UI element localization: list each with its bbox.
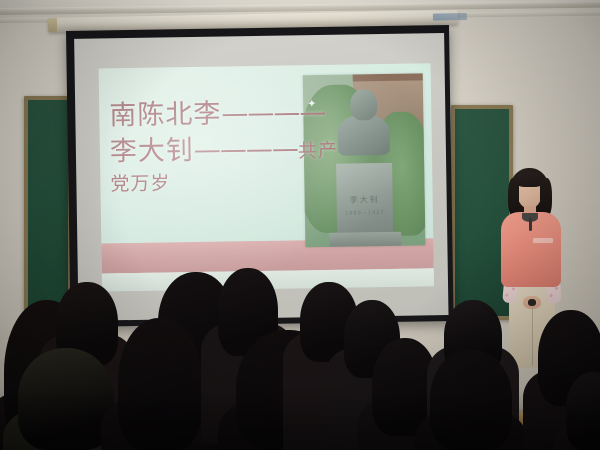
chalkboard-left: [24, 96, 72, 318]
presenter-hair-side-left: [508, 178, 519, 216]
student-long-hair-right-head: [430, 350, 512, 450]
photo-bust-shoulders: [337, 115, 390, 156]
slide-text-block: 南陈北李———— 李大钊————共产 党万岁: [109, 95, 326, 198]
photo-inscription-dates: 1889—1927: [345, 210, 385, 217]
classroom-scene: 李大钊 1889—1927 ✦ 南陈北李———— 李大钊————共产 党万岁: [0, 0, 600, 450]
student-olive-coat-head: [18, 348, 114, 450]
slide-line-2: 李大钊————共产: [110, 131, 326, 171]
slide-line-2-dash: ————: [194, 134, 298, 167]
student-ponytail-center-head: [118, 318, 202, 450]
slide-line-1-dash: ————: [221, 97, 325, 130]
housing-brand-logo: [433, 13, 467, 21]
slide-line-1: 南陈北李————: [109, 95, 325, 135]
photo-pedestal-base: [329, 232, 401, 247]
projected-slide: 李大钊 1889—1927 ✦ 南陈北李———— 李大钊————共产 党万岁: [99, 63, 434, 291]
presenter-placket: [529, 218, 532, 231]
slide-line-2-main: 李大钊: [110, 135, 194, 167]
slide-line-3: 党万岁: [110, 169, 325, 198]
slide-line-1-main: 南陈北李: [109, 99, 221, 132]
presenter-pants-seam: [532, 308, 533, 366]
photo-inscription-name: 李大钊: [350, 194, 380, 205]
presenter-held-object: [528, 299, 536, 306]
presenter-shirt-logo: [533, 238, 553, 243]
slide-line-2-suffix: 共产: [298, 140, 338, 163]
photo-wall-coping: [353, 73, 423, 81]
photo-bust-head: [350, 90, 377, 121]
housing-end-cap: [48, 18, 57, 32]
